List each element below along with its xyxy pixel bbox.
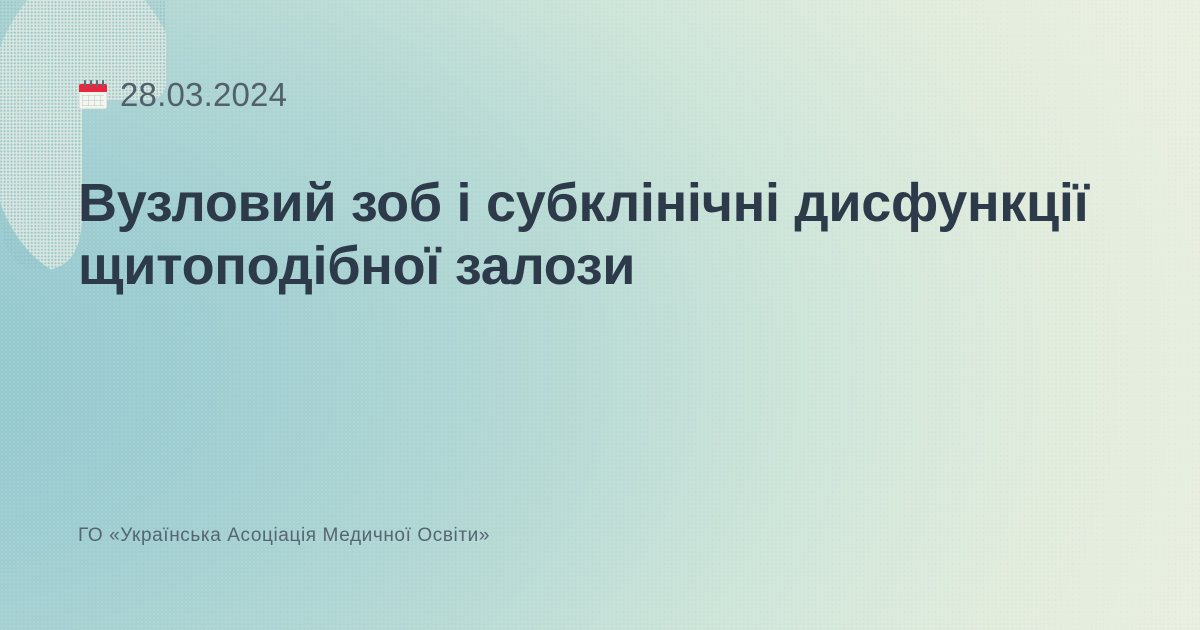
calendar-ring [84,80,86,87]
date-text: 28.03.2024 [120,78,287,111]
date-row: 28.03.2024 [78,78,287,111]
card-content: 28.03.2024 Вузловий зоб і субклінічні ди… [0,0,1200,630]
social-card: 28.03.2024 Вузловий зоб і субклінічні ди… [0,0,1200,630]
calendar-ring [90,80,92,87]
calendar-ring [96,80,98,87]
page-title: Вузловий зоб і субклінічні дисфункції щи… [78,172,1148,298]
calendar-icon [78,80,108,110]
calendar-grid [82,95,104,106]
organization-label: ГО «Українська Асоціація Медичної Освіти… [78,525,490,547]
calendar-ring [102,80,104,87]
